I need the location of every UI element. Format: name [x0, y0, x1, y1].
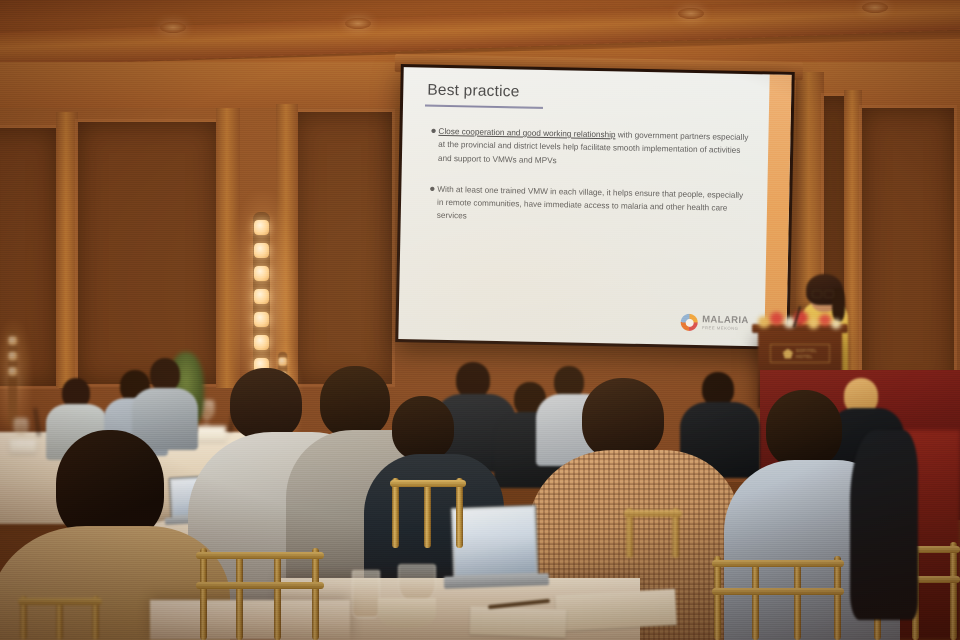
logo-main-text: MALARIA	[702, 315, 749, 325]
water-glass	[352, 570, 380, 618]
person-head	[320, 366, 390, 438]
chiavari-chair	[18, 596, 102, 640]
plaque-line-1: SOFITEL	[796, 348, 817, 353]
floral-arrangement	[754, 308, 846, 334]
presentation-slide: Best practice ● Close cooperation and go…	[398, 67, 791, 347]
chair-post	[392, 478, 399, 548]
sconce-segment-icon	[254, 312, 269, 327]
chair-post	[950, 542, 957, 640]
logo-sub-text: FREE MEKONG	[702, 326, 749, 331]
plaque-line-2: HOTEL	[796, 354, 817, 359]
chair-post	[274, 554, 281, 640]
chair-post	[424, 482, 431, 548]
person-head	[150, 358, 180, 391]
chair-post	[752, 560, 759, 640]
glass-foot	[202, 425, 210, 427]
sconce-segment-icon	[254, 289, 269, 304]
ceiling-downlight-icon	[862, 2, 888, 13]
sconce-segment-icon	[254, 266, 269, 281]
wall-panel	[78, 122, 216, 384]
chiavari-chair	[624, 508, 682, 558]
sconce-segment-icon	[9, 367, 17, 375]
chair-post	[312, 548, 319, 640]
laptop-base	[444, 573, 549, 588]
chair-rail	[196, 582, 324, 589]
screen-frame: Best practice ● Close cooperation and go…	[395, 64, 795, 350]
wine-glass	[14, 418, 26, 446]
flower-icon	[831, 319, 841, 329]
paper-stack	[470, 606, 567, 637]
slide-bullet-item: ● With at least one trained VMW in each …	[429, 183, 752, 229]
speaker-eyeglasses-icon	[812, 290, 834, 296]
chair-post	[56, 600, 63, 640]
flower-icon	[819, 314, 831, 326]
person-head	[392, 396, 454, 460]
chair-rail	[712, 560, 844, 567]
draped-jacket	[850, 430, 918, 620]
wall-pilaster	[56, 112, 78, 388]
slide-title: Best practice	[427, 82, 520, 102]
hotel-crest-icon	[783, 349, 793, 359]
chair-rail	[18, 598, 102, 605]
bullet-text: Close cooperation and good working relat…	[438, 125, 753, 171]
glass-foot	[16, 443, 24, 445]
chair-post	[456, 478, 463, 548]
sconce-segment-icon	[279, 358, 287, 366]
ceiling-downlight-icon	[678, 8, 704, 19]
sconce-segment-icon	[9, 337, 17, 345]
glass-stem	[206, 417, 208, 425]
chair-rail	[712, 588, 844, 595]
ceiling-downlight-icon	[345, 18, 371, 29]
bullet-text: With at least one trained VMW in each vi…	[437, 183, 752, 229]
podium-plaque: SOFITEL HOTEL	[770, 344, 830, 363]
chair-rail	[624, 510, 682, 517]
bullet-emphasis: Close cooperation and good working relat…	[438, 127, 615, 140]
bullet-remainder: With at least one trained VMW in each vi…	[437, 185, 743, 221]
chair-post	[834, 556, 841, 640]
chiavari-chair	[390, 478, 466, 548]
sconce-segment-icon	[254, 220, 269, 235]
person-head	[582, 378, 664, 460]
flower-icon	[770, 312, 783, 325]
chiavari-chair	[196, 548, 324, 640]
flower-icon	[808, 318, 819, 329]
slide-bullet-item: ● Close cooperation and good working rel…	[430, 125, 753, 171]
slide-title-underline	[425, 105, 543, 109]
flower-icon	[758, 316, 770, 328]
chair-post	[200, 548, 207, 640]
chair-rail	[196, 552, 324, 559]
sconce-segment-icon	[9, 352, 17, 360]
name-placard	[196, 426, 226, 441]
projection-screen: Best practice ● Close cooperation and go…	[395, 58, 797, 356]
sconce-segment-icon	[254, 243, 269, 258]
slide-bullet-list: ● Close cooperation and good working rel…	[428, 125, 752, 247]
chair-post	[714, 556, 721, 640]
chiavari-chair	[712, 556, 844, 640]
chair-post	[794, 560, 801, 640]
ceiling-downlight-icon	[160, 22, 186, 33]
small-bowl	[378, 598, 436, 628]
person-head	[230, 368, 302, 440]
person-head	[702, 372, 734, 406]
paper-stack	[555, 589, 677, 631]
wall-panel	[296, 112, 392, 384]
person-head	[766, 390, 842, 468]
logo-text-block: MALARIA FREE MEKONG	[702, 315, 749, 331]
malaria-free-mekong-icon	[681, 314, 698, 331]
conference-room-photo: Best practice ● Close cooperation and go…	[0, 0, 960, 640]
chair-post	[236, 554, 243, 640]
person-head	[456, 362, 490, 398]
chair-rail	[390, 480, 466, 487]
plaque-text-block: SOFITEL HOTEL	[796, 348, 817, 359]
slide-logo: MALARIA FREE MEKONG	[681, 314, 749, 332]
glass-stem	[20, 435, 22, 443]
